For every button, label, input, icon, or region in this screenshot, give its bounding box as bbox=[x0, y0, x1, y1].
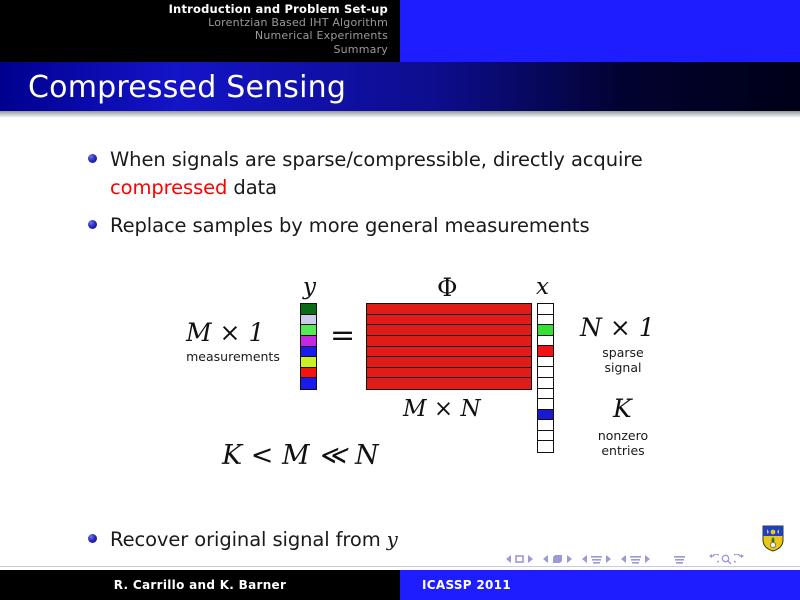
footer-divider bbox=[0, 566, 800, 567]
label-phi-matrix: Φ bbox=[437, 273, 458, 302]
y-vector-cell bbox=[301, 357, 316, 368]
next-section-icon bbox=[644, 554, 651, 564]
phi-matrix-row bbox=[367, 368, 531, 379]
y-vector-cell bbox=[301, 315, 316, 326]
label-y-vector: y bbox=[303, 274, 316, 300]
header-navigation-bar: Introduction and Problem Set-up Lorentzi… bbox=[0, 0, 800, 62]
footer-bar: R. Carrillo and K. Barner ICASSP 2011 bbox=[0, 570, 800, 600]
bullet-text-3: Recover original signal from y bbox=[110, 526, 398, 554]
x-vector-cell bbox=[538, 367, 553, 378]
prev-section-icon bbox=[620, 554, 627, 564]
label-k: K bbox=[613, 394, 632, 423]
nav-back-search-group[interactable] bbox=[708, 554, 745, 565]
section-nav-list: Introduction and Problem Set-up Lorentzi… bbox=[0, 2, 388, 56]
prev-frame-icon bbox=[542, 554, 549, 564]
nav-item-introduction[interactable]: Introduction and Problem Set-up bbox=[0, 2, 388, 16]
slide-icon bbox=[514, 554, 525, 564]
label-measurements: measurements bbox=[172, 349, 294, 364]
y-vector-cell bbox=[301, 347, 316, 358]
phi-matrix-row bbox=[367, 315, 531, 326]
label-sparse: sparse bbox=[580, 345, 666, 360]
frame-icon bbox=[551, 554, 564, 564]
x-vector-cell bbox=[538, 399, 553, 410]
slide: Introduction and Problem Set-up Lorentzi… bbox=[0, 0, 800, 600]
next-slide-icon bbox=[527, 554, 534, 564]
phi-matrix-row bbox=[367, 336, 531, 347]
nav-item-summary[interactable]: Summary bbox=[0, 43, 388, 56]
title-bar-shadow bbox=[0, 111, 800, 118]
nav-slide-group[interactable] bbox=[505, 554, 534, 564]
y-vector bbox=[300, 303, 317, 390]
phi-matrix bbox=[366, 303, 532, 390]
nav-item-lorentzian-iht[interactable]: Lorentzian Based IHT Algorithm bbox=[0, 16, 388, 29]
x-vector-cell bbox=[538, 378, 553, 389]
phi-matrix-row bbox=[367, 378, 531, 389]
slide-body: When signals are sparse/compressible, di… bbox=[0, 118, 800, 570]
back-icon bbox=[708, 554, 719, 565]
x-vector bbox=[537, 303, 554, 453]
x-vector-cell bbox=[538, 389, 553, 400]
prev-subsection-icon bbox=[581, 554, 588, 564]
label-m-by-n: M × N bbox=[403, 396, 481, 422]
nav-item-numerical-experiments[interactable]: Numerical Experiments bbox=[0, 29, 388, 42]
x-vector-cell bbox=[538, 410, 553, 421]
inequality-expression: K < M ≪ N bbox=[222, 440, 379, 471]
nav-frame-group[interactable] bbox=[542, 554, 573, 564]
bullet-3-pre: Recover original signal from bbox=[110, 528, 387, 551]
bullet-dot-icon bbox=[88, 534, 97, 543]
x-vector-cell bbox=[538, 357, 553, 368]
university-logo bbox=[761, 524, 785, 552]
y-vector-cell bbox=[301, 325, 316, 336]
section-icon bbox=[629, 554, 642, 564]
compressed-sensing-diagram: M × 1 measurements y = Φ M × N x N × 1 s… bbox=[0, 118, 800, 570]
label-signal: signal bbox=[580, 360, 666, 375]
equals-sign: = bbox=[330, 318, 355, 353]
nav-section-group[interactable] bbox=[620, 554, 651, 564]
y-vector-cell bbox=[301, 368, 316, 379]
bullet-item-3: Recover original signal from y bbox=[88, 526, 698, 554]
nav-subsection-group[interactable] bbox=[581, 554, 612, 564]
nav-doc-group[interactable] bbox=[673, 554, 686, 564]
search-icon bbox=[721, 554, 732, 565]
next-subsection-icon bbox=[605, 554, 612, 564]
footer-authors: R. Carrillo and K. Barner bbox=[0, 570, 400, 600]
phi-matrix-row bbox=[367, 304, 531, 315]
bullet-3-math-tail: y bbox=[387, 528, 398, 551]
x-vector-cell bbox=[538, 441, 553, 452]
next-frame-icon bbox=[566, 554, 573, 564]
document-icon bbox=[673, 554, 686, 564]
label-x-vector: x bbox=[536, 274, 549, 300]
phi-matrix-row bbox=[367, 347, 531, 358]
label-nonzero: nonzero bbox=[580, 428, 666, 443]
x-vector-cell bbox=[538, 336, 553, 347]
label-m-by-1: M × 1 bbox=[186, 318, 264, 347]
x-vector-cell bbox=[538, 315, 553, 326]
beamer-navigation-symbols bbox=[505, 551, 785, 567]
y-vector-cell bbox=[301, 304, 316, 315]
x-vector-cell bbox=[538, 304, 553, 315]
page-title: Compressed Sensing bbox=[28, 70, 346, 105]
y-vector-cell bbox=[301, 336, 316, 347]
x-vector-cell bbox=[538, 431, 553, 442]
prev-slide-icon bbox=[505, 554, 512, 564]
phi-matrix-row bbox=[367, 325, 531, 336]
label-n-by-1: N × 1 bbox=[580, 313, 655, 342]
x-vector-cell bbox=[538, 346, 553, 357]
phi-matrix-row bbox=[367, 357, 531, 368]
footer-conference: ICASSP 2011 bbox=[400, 570, 800, 600]
x-vector-cell bbox=[538, 325, 553, 336]
x-vector-cell bbox=[538, 420, 553, 431]
slide-title-bar: Compressed Sensing bbox=[0, 62, 800, 111]
forward-icon bbox=[734, 554, 745, 565]
subsection-icon bbox=[590, 554, 603, 564]
y-vector-cell bbox=[301, 378, 316, 389]
label-entries: entries bbox=[580, 443, 666, 458]
